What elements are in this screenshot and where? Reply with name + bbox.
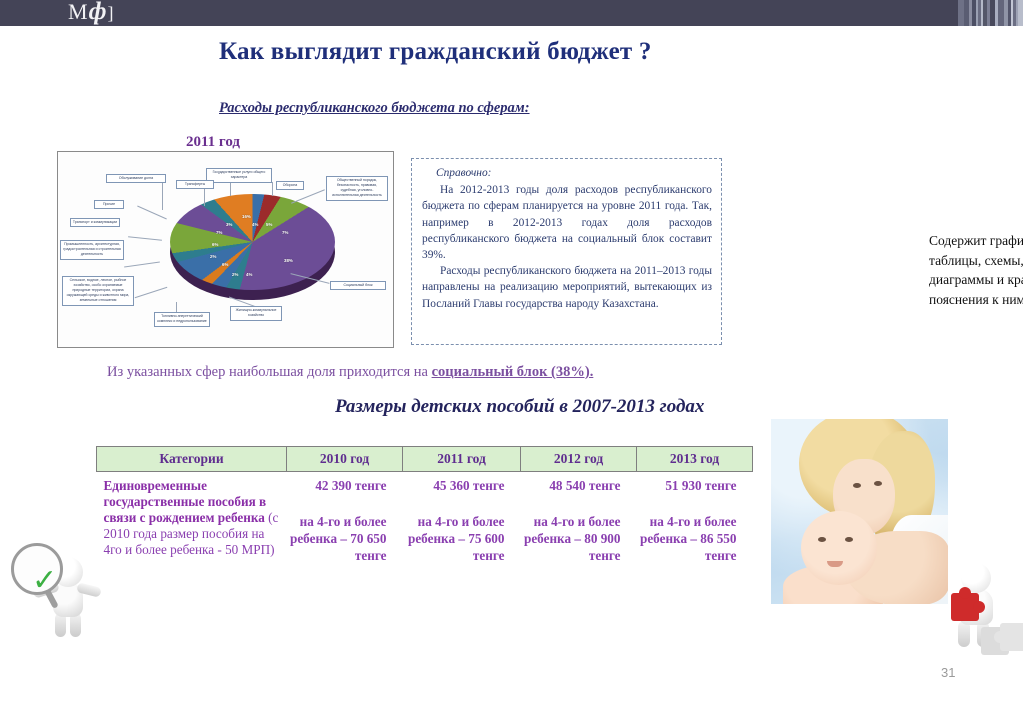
callout-line-1 [272, 182, 273, 196]
logo-bracket: ] [107, 3, 114, 23]
callout-line-7 [124, 261, 160, 267]
callout-line-8 [128, 236, 162, 241]
pie-value-0: 4% [252, 222, 258, 227]
table-header-2013: 2013 год [637, 447, 753, 472]
callout-line-11 [204, 188, 205, 206]
pie-label-5: Топливно-энергетический комплекс и недро… [154, 312, 210, 327]
pie-value-2: 7% [282, 230, 288, 235]
pie-value-7: 2% [210, 254, 216, 259]
table-header-2012: 2012 год [521, 447, 637, 472]
table-header-2011: 2011 год [403, 447, 521, 472]
decorative-stripes [958, 0, 1023, 26]
reference-paragraph-1: На 2012-2013 годы доля расходов республи… [422, 182, 712, 263]
cell-spacer [288, 495, 387, 514]
pie-value-4: 4% [246, 272, 252, 277]
photo-mother-eye-left [853, 483, 861, 488]
table-header-2010: 2010 год [287, 447, 403, 472]
table-row: Единовременные государственные пособия в… [97, 472, 753, 566]
page-number: 31 [941, 665, 955, 680]
pie-label-7: Промышленность, архитектурная, градостро… [60, 240, 124, 260]
chart-note-prefix: Из указанных сфер наибольшая доля приход… [107, 364, 432, 380]
pie-value-9: 7% [216, 230, 222, 235]
pie-value-3: 38% [284, 258, 293, 263]
photo-baby-head [801, 511, 877, 585]
table-header-category: Категории [97, 447, 287, 472]
pie-label-6: Сельское, водное, лесное, рыбное хозяйст… [62, 276, 134, 306]
puzzle-knob-right [973, 601, 985, 613]
pie-label-8: Транспорт и коммуникации [70, 218, 120, 227]
photo-mother-eye-right [874, 481, 882, 486]
pie-chart-figure: 4% 5% 7% 38% 4% 2% 6% 2% 6% 7% 3% 16% Го… [57, 151, 394, 348]
stripe-17 [1018, 0, 1023, 26]
table-cell-2013: 51 930 тенге на 4-го и более ребенка – 8… [637, 472, 753, 566]
child-benefits-table: Категории 2010 год 2011 год 2012 год 201… [96, 446, 753, 566]
chart-note: Из указанных сфер наибольшая доля приход… [107, 364, 593, 381]
logo-letter-m: М [68, 0, 89, 24]
pie-label-11: Трансферты [176, 180, 214, 189]
cell-spacer [522, 495, 621, 514]
pie-label-4: Жилищно-коммунальное хозяйство [230, 306, 282, 321]
pie-label-9: Прочие [94, 200, 124, 209]
value-top-2012: 48 540 тенге [549, 478, 620, 493]
pie-value-8: 6% [212, 242, 218, 247]
pie-value-6: 6% [222, 262, 228, 267]
top-bar: Мф] [0, 0, 1023, 26]
value-top-2013: 51 930 тенге [665, 478, 736, 493]
figure-with-check-icon: ✓ [3, 533, 107, 637]
puzzle-knob-top [959, 587, 971, 599]
page-title: Как выглядит гражданский бюджет ? [219, 38, 652, 66]
callout-line-10 [162, 182, 163, 210]
pie-value-1: 5% [266, 222, 272, 227]
mother-and-baby-photo [771, 419, 948, 604]
chart-year-label: 2011 год [186, 134, 240, 151]
table-cell-2011: 45 360 тенге на 4-го и более ребенка – 7… [403, 472, 521, 566]
check-sign-circle: ✓ [11, 543, 63, 595]
side-annotation: Содержит графики, таблицы, схемы, диагра… [929, 231, 1023, 309]
chart-heading: Расходы республиканского бюджета по сфер… [219, 100, 530, 117]
value-top-2011: 45 360 тенге [433, 478, 504, 493]
cell-spacer [404, 495, 505, 514]
table-cell-2010: 42 390 тенге на 4-го и более ребенка – 7… [287, 472, 403, 566]
reference-box: Справочно: На 2012-2013 годы доля расход… [411, 158, 722, 345]
category-bold-text: Единовременные государственные пособия в… [104, 478, 267, 525]
cell-spacer [638, 495, 737, 514]
figure-with-puzzle-piece [925, 557, 1021, 653]
photo-baby-eye-right [845, 537, 853, 542]
check-icon: ✓ [32, 566, 57, 596]
pie-label-3: Социальный блок [330, 281, 386, 290]
pie-label-1: Оборона [276, 181, 304, 190]
pie-chart: 4% 5% 7% 38% 4% 2% 6% 2% 6% 7% 3% 16% [170, 188, 335, 306]
pie-value-10: 3% [226, 222, 232, 227]
pie-value-5: 2% [232, 272, 238, 277]
chart-note-emphasis: социальный блок (38%). [432, 364, 594, 380]
value-bottom-2012: на 4-го и более ребенка – 80 900 тенге [524, 514, 621, 563]
photo-baby-eye-left [818, 537, 826, 542]
table-header-row: Категории 2010 год 2011 год 2012 год 201… [97, 447, 753, 472]
callout-line-6 [135, 287, 168, 298]
app-logo: Мф] [68, 0, 114, 26]
pie-chart-surface [170, 194, 335, 290]
puzzle-knob-left [994, 631, 1006, 643]
reference-paragraph-2: Расходы республиканского бюджета на 2011… [422, 263, 712, 312]
pie-value-11: 16% [242, 214, 251, 219]
table-cell-2012: 48 540 тенге на 4-го и более ребенка – 8… [521, 472, 637, 566]
table-title: Размеры детских пособий в 2007-2013 года… [335, 396, 704, 418]
reference-lead: Справочно: [436, 165, 712, 181]
pie-label-2: Общественный порядок, безопасность, прав… [326, 176, 388, 201]
logo-letter-phi: ф [89, 0, 108, 25]
pie-label-0: Государственные услуги общего характера [206, 168, 272, 183]
pie-label-10: Обслуживание долга [106, 174, 166, 183]
value-top-2010: 42 390 тенге [315, 478, 386, 493]
table-cell-category: Единовременные государственные пособия в… [97, 472, 287, 566]
value-bottom-2010: на 4-го и более ребенка – 70 650 тенге [290, 514, 387, 563]
value-bottom-2011: на 4-го и более ребенка – 75 600 тенге [408, 514, 505, 563]
value-bottom-2013: на 4-го и более ребенка – 86 550 тенге [640, 514, 737, 563]
